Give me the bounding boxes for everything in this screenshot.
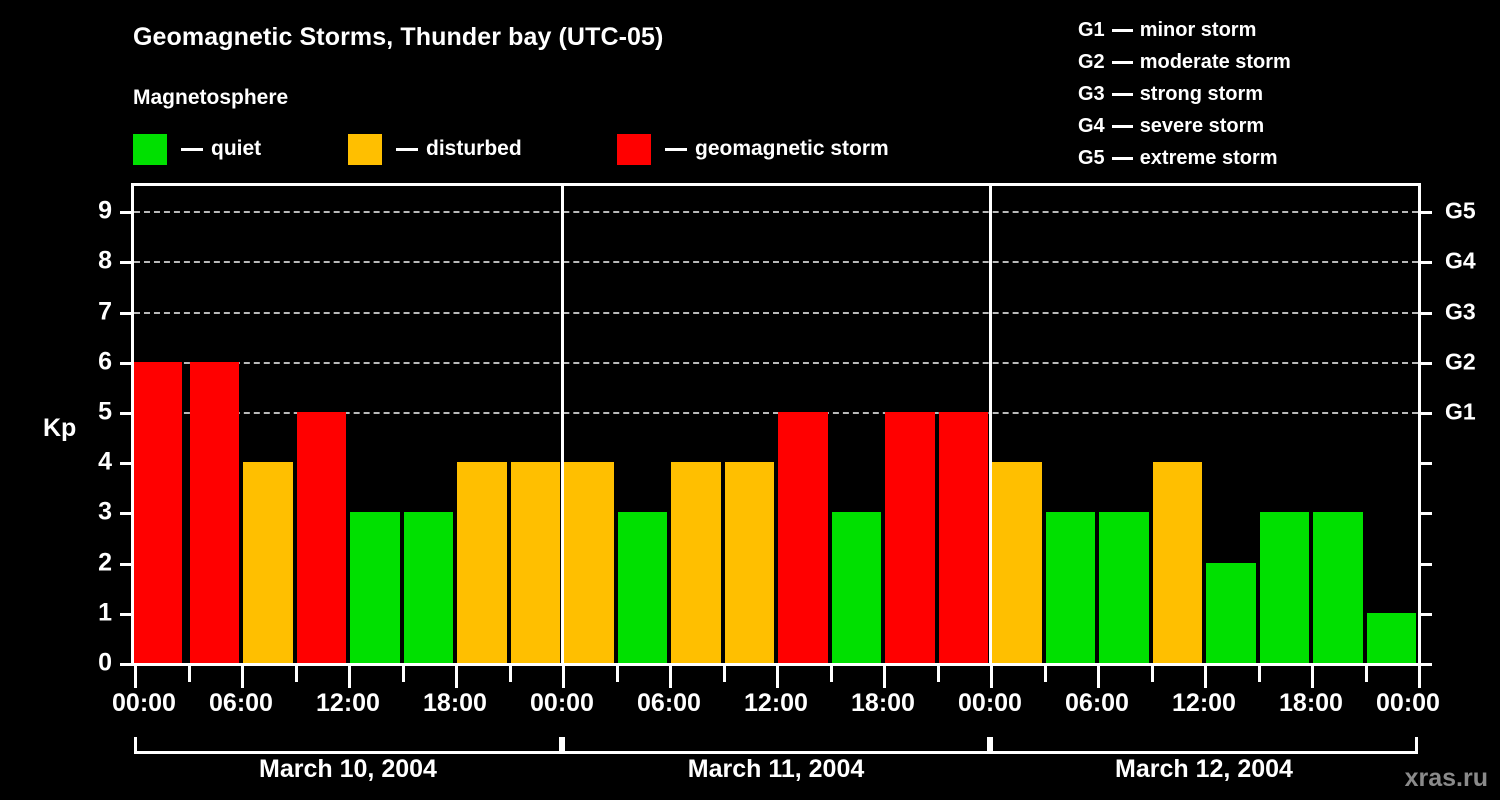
x-axis-tick <box>1365 666 1368 682</box>
g-scale-dash-icon <box>1112 61 1133 64</box>
bar <box>457 462 507 663</box>
g-scale-dash-icon <box>1112 157 1133 160</box>
y-axis-tick <box>120 261 131 264</box>
x-axis-tick <box>295 666 298 682</box>
legend-heading: Magnetosphere <box>133 86 288 110</box>
g-scale-row-g3: G3strong storm <box>1078 78 1291 110</box>
x-axis-tick-label: 06:00 <box>1065 689 1129 718</box>
x-axis-tick <box>776 666 779 688</box>
bar <box>564 462 614 663</box>
y-axis-tick-label: 3 <box>78 498 112 527</box>
bar <box>1260 512 1310 663</box>
bar <box>134 362 182 663</box>
g-scale-code: G3 <box>1078 78 1105 110</box>
g-scale-description: moderate storm <box>1140 46 1291 78</box>
g-scale-description: extreme storm <box>1140 142 1278 174</box>
bar <box>992 462 1042 663</box>
legend-dash-icon <box>396 148 418 151</box>
day-bracket <box>134 737 562 754</box>
bar <box>671 462 721 663</box>
legend-swatch-icon <box>348 134 382 165</box>
bar <box>832 512 882 663</box>
g-axis-minor-tick <box>1421 613 1432 616</box>
x-axis-tick-label: 00:00 <box>1376 689 1440 718</box>
y-axis-tick-label: 7 <box>78 297 112 326</box>
bar <box>1153 462 1203 663</box>
g-axis-label-g3: G3 <box>1445 298 1500 325</box>
g-scale-dash-icon <box>1112 93 1133 96</box>
g-scale-dash-icon <box>1112 29 1133 32</box>
x-axis-tick <box>1258 666 1261 682</box>
bar <box>1313 512 1363 663</box>
day-bracket <box>990 737 1418 754</box>
g-axis-label-g4: G4 <box>1445 248 1500 275</box>
x-axis-tick <box>990 666 993 688</box>
bar <box>297 412 347 663</box>
legend-label: geomagnetic storm <box>695 137 889 161</box>
legend-label: quiet <box>211 137 261 161</box>
y-axis-title: Kp <box>43 414 76 443</box>
y-axis-tick-label: 1 <box>78 598 112 627</box>
day-bracket <box>562 737 990 754</box>
bar <box>725 462 775 663</box>
g-axis-tick <box>1421 312 1432 315</box>
bar-series <box>134 186 1418 663</box>
x-axis-tick-label: 12:00 <box>316 689 380 718</box>
bar <box>1367 613 1417 663</box>
x-axis-tick-label: 18:00 <box>851 689 915 718</box>
x-axis-tick <box>1151 666 1154 682</box>
g-axis-tick <box>1421 211 1432 214</box>
legend-label: disturbed <box>426 137 522 161</box>
y-axis-tick-label: 9 <box>78 197 112 226</box>
g-scale-row-g2: G2moderate storm <box>1078 46 1291 78</box>
g-scale-row-g4: G4severe storm <box>1078 110 1291 142</box>
g-axis-minor-tick <box>1421 563 1432 566</box>
g-scale-description: strong storm <box>1140 78 1263 110</box>
x-axis-tick-label: 06:00 <box>637 689 701 718</box>
bar <box>243 462 293 663</box>
day-separator-1 <box>561 186 564 663</box>
x-axis-tick <box>616 666 619 682</box>
bar <box>618 512 668 663</box>
g-scale-code: G4 <box>1078 110 1105 142</box>
x-axis-tick-label: 12:00 <box>1172 689 1236 718</box>
y-axis-tick <box>120 613 131 616</box>
chart-root: Geomagnetic Storms, Thunder bay (UTC-05)… <box>0 0 1500 800</box>
y-axis-tick <box>120 362 131 365</box>
bar <box>1206 563 1256 663</box>
g-scale-dash-icon <box>1112 125 1133 128</box>
y-axis-tick-label: 6 <box>78 347 112 376</box>
bar <box>1046 512 1096 663</box>
y-axis-tick <box>120 412 131 415</box>
x-axis-tick-label: 00:00 <box>112 689 176 718</box>
g-scale-code: G2 <box>1078 46 1105 78</box>
y-axis-tick-label: 2 <box>78 548 112 577</box>
g-axis-tick <box>1421 412 1432 415</box>
x-axis-tick-label: 00:00 <box>530 689 594 718</box>
x-axis-tick <box>1097 666 1100 688</box>
y-axis-tick-label: 5 <box>78 397 112 426</box>
y-axis-tick-label: 4 <box>78 448 112 477</box>
x-axis-tick <box>883 666 886 688</box>
page-title: Geomagnetic Storms, Thunder bay (UTC-05) <box>133 23 663 52</box>
y-axis-tick <box>120 663 131 666</box>
bar <box>939 412 989 663</box>
x-axis-tick <box>1418 666 1421 688</box>
y-axis-tick <box>120 312 131 315</box>
y-axis-tick <box>120 211 131 214</box>
bar <box>350 512 400 663</box>
g-scale-code: G1 <box>1078 14 1105 46</box>
x-axis-tick-label: 06:00 <box>209 689 273 718</box>
legend-swatch-icon <box>617 134 651 165</box>
x-axis-tick <box>1204 666 1207 688</box>
day-separator-2 <box>989 186 992 663</box>
g-scale-row-g5: G5extreme storm <box>1078 142 1291 174</box>
x-axis-tick <box>402 666 405 682</box>
day-label: March 12, 2004 <box>1115 755 1293 784</box>
x-axis-tick <box>1044 666 1047 682</box>
g-axis-minor-tick <box>1421 512 1432 515</box>
watermark: xras.ru <box>1405 764 1488 793</box>
legend-item-quiet: quiet <box>133 133 261 165</box>
x-axis-tick <box>669 666 672 688</box>
x-axis-tick <box>134 666 137 688</box>
bar <box>404 512 454 663</box>
bar <box>778 412 828 663</box>
x-axis-tick-label: 18:00 <box>1279 689 1343 718</box>
day-label: March 11, 2004 <box>688 755 865 784</box>
g-scale-description: minor storm <box>1140 14 1257 46</box>
plot-inner <box>134 186 1418 663</box>
y-axis-tick <box>120 512 131 515</box>
bar <box>1099 512 1149 663</box>
x-axis-tick <box>348 666 351 688</box>
y-axis-tick <box>120 563 131 566</box>
g-axis-tick <box>1421 261 1432 264</box>
legend-item-disturbed: disturbed <box>348 133 522 165</box>
x-axis-tick <box>723 666 726 682</box>
g-scale-code: G5 <box>1078 142 1105 174</box>
g-axis-tick <box>1421 362 1432 365</box>
x-axis-tick <box>455 666 458 688</box>
x-axis-tick <box>830 666 833 682</box>
x-axis-tick <box>509 666 512 682</box>
day-label: March 10, 2004 <box>259 755 437 784</box>
g-axis-label-g5: G5 <box>1445 198 1500 225</box>
g-axis-label-g1: G1 <box>1445 398 1500 425</box>
x-axis-tick <box>188 666 191 682</box>
legend-item-geomagnetic-storm: geomagnetic storm <box>617 133 889 165</box>
x-axis-tick-label: 12:00 <box>744 689 808 718</box>
y-axis-tick-label: 0 <box>78 649 112 678</box>
legend-swatch-icon <box>133 134 167 165</box>
g-scale-description: severe storm <box>1140 110 1265 142</box>
y-axis-tick-label: 8 <box>78 247 112 276</box>
g-axis-label-g2: G2 <box>1445 348 1500 375</box>
bar <box>190 362 240 663</box>
x-axis-tick-label: 18:00 <box>423 689 487 718</box>
plot-area <box>131 183 1421 666</box>
x-axis-tick <box>937 666 940 682</box>
x-axis-tick <box>562 666 565 688</box>
y-axis-tick <box>120 462 131 465</box>
x-axis-tick <box>241 666 244 688</box>
g-axis-minor-tick <box>1421 663 1432 666</box>
legend-dash-icon <box>665 148 687 151</box>
legend-dash-icon <box>181 148 203 151</box>
g-scale-row-g1: G1minor storm <box>1078 14 1291 46</box>
bar <box>885 412 935 663</box>
g-axis-minor-tick <box>1421 462 1432 465</box>
x-axis-tick-label: 00:00 <box>958 689 1022 718</box>
x-axis-tick <box>1311 666 1314 688</box>
bar <box>511 462 561 663</box>
g-scale-legend: G1minor stormG2moderate stormG3strong st… <box>1078 14 1291 174</box>
